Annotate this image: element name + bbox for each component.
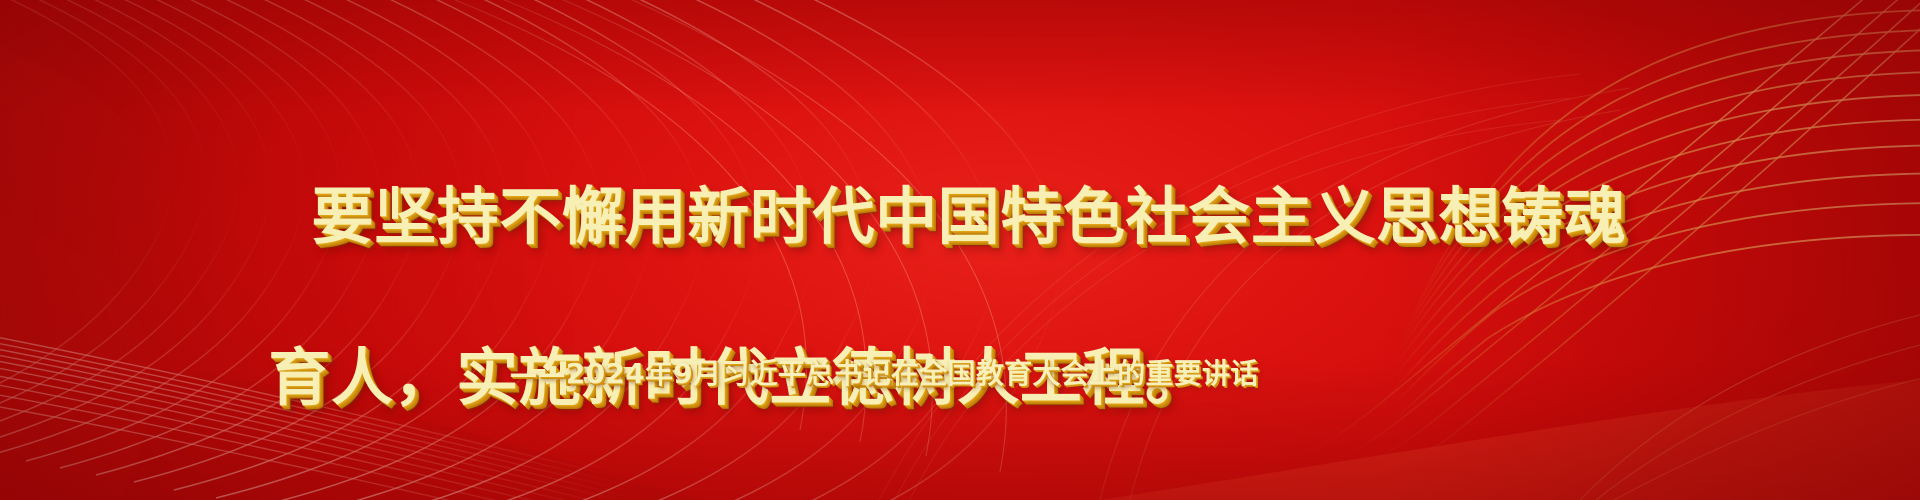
slogan-banner: 要坚持不懈用新时代中国特色社会主义思想铸魂 育人，实施新时代立德树人工程。 ——… [0, 0, 1920, 500]
attribution-text: ——2024年9月习近平总书记在全国教育大会上的重要讲话 [0, 352, 1920, 392]
headline-text: 要坚持不懈用新时代中国特色社会主义思想铸魂 育人，实施新时代立德树人工程。 [0, 96, 1920, 499]
headline-line-1: 要坚持不懈用新时代中国特色社会主义思想铸魂 [60, 177, 1860, 258]
banner-content: 要坚持不懈用新时代中国特色社会主义思想铸魂 育人，实施新时代立德树人工程。 ——… [0, 0, 1920, 500]
